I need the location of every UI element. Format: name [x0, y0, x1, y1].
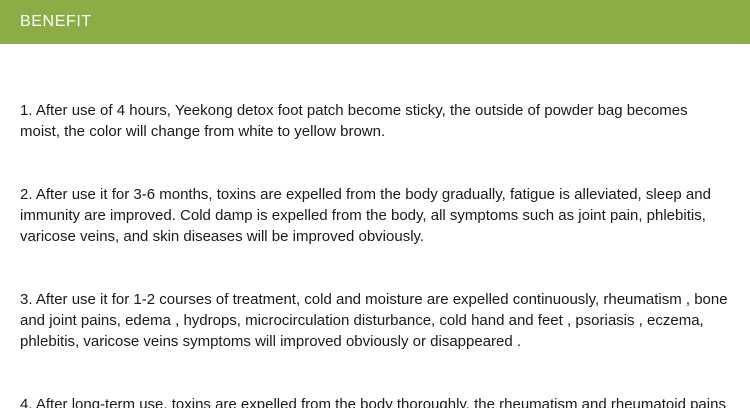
section-header-title: BENEFIT	[20, 14, 92, 30]
benefit-section-page: BENEFIT 1. After use of 4 hours, Yeekong…	[0, 0, 750, 408]
benefit-body-area: 1. After use of 4 hours, Yeekong detox f…	[0, 44, 750, 408]
benefit-paragraph-2: 2. After use it for 3-6 months, toxins a…	[20, 184, 730, 247]
benefit-paragraph-3: 3. After use it for 1-2 courses of treat…	[20, 289, 730, 352]
benefit-paragraph-1: 1. After use of 4 hours, Yeekong detox f…	[20, 100, 730, 142]
benefit-body-text: 1. After use of 4 hours, Yeekong detox f…	[20, 58, 730, 408]
benefit-paragraph-4: 4. After long-term use, toxins are expel…	[20, 394, 730, 408]
section-header-bar: BENEFIT	[0, 0, 750, 44]
